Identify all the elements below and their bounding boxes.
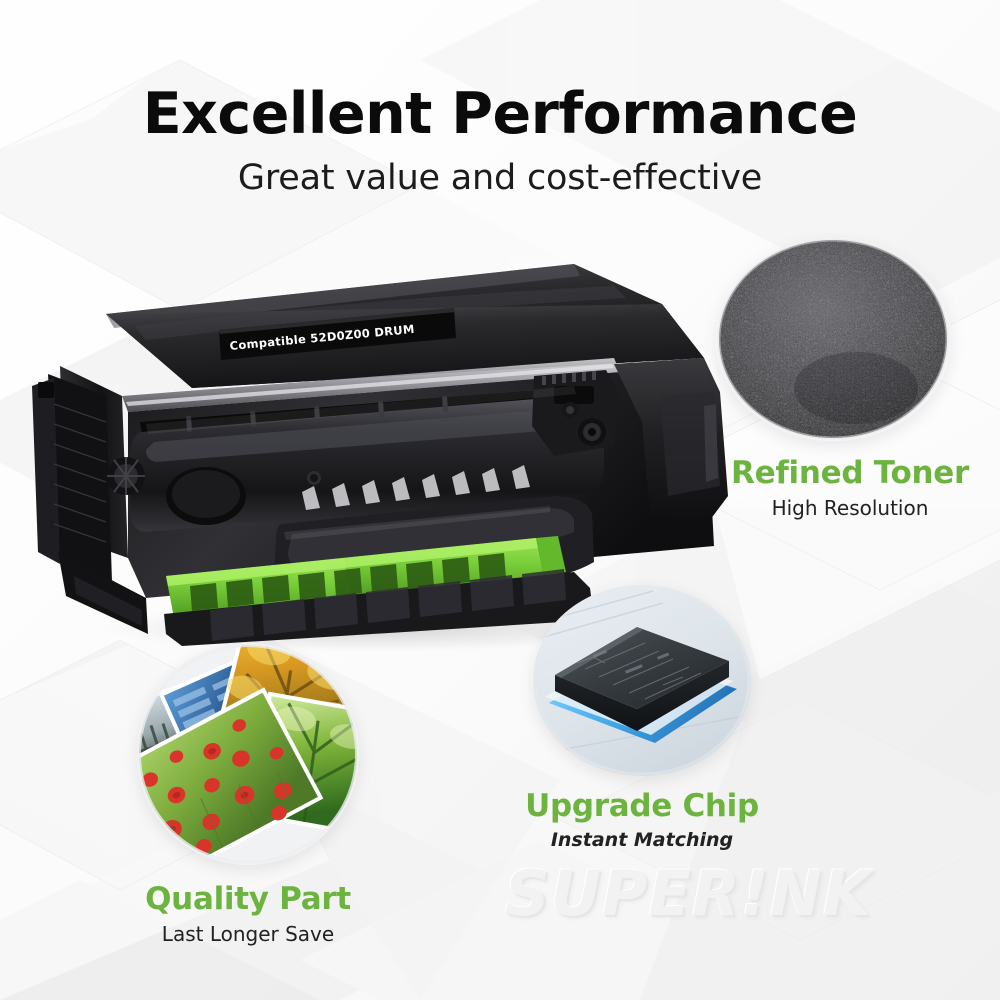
page-title: Excellent Performance [0, 84, 1000, 144]
brand-watermark: SUPER!NK [505, 857, 872, 930]
feature-title: Refined Toner [710, 455, 990, 491]
drum-gear-assembly [532, 370, 620, 456]
feature-title: Upgrade Chip [492, 788, 792, 824]
page-subtitle: Great value and cost-effective [0, 158, 1000, 198]
toner-powder-image [716, 238, 951, 441]
product-feature-banner: Excellent Performance Great value and co… [0, 0, 1000, 1000]
feature-subtitle: High Resolution [710, 496, 990, 520]
feature-quality-part: Quality Part Last Longer Save [98, 643, 398, 946]
feature-subtitle: Last Longer Save [98, 922, 398, 946]
chip-image [533, 585, 751, 776]
feature-title: Quality Part [98, 881, 398, 917]
feature-subtitle: Instant Matching [492, 829, 792, 851]
feature-upgrade-chip: Upgrade Chip Instant Matching [492, 585, 792, 851]
header-block: Excellent Performance Great value and co… [0, 84, 1000, 198]
feature-refined-toner: Refined Toner High Resolution [710, 238, 990, 520]
printed-photos-image [137, 643, 359, 865]
